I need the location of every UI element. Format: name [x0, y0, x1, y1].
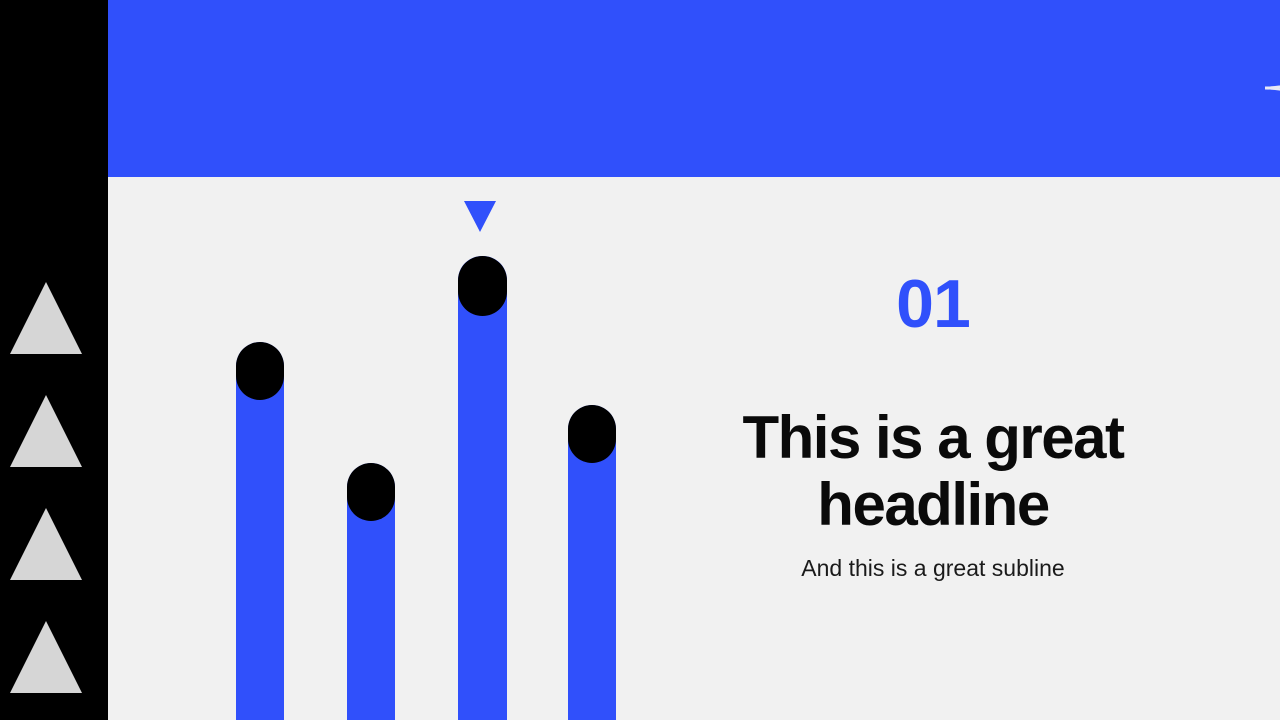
bar-chart: [0, 0, 720, 720]
bar-3: [458, 256, 507, 720]
bar-2-cap-icon: [347, 463, 395, 521]
text-block: 01 This is a great headline And this is …: [700, 270, 1166, 584]
bar-3-cap-icon: [458, 256, 507, 316]
slide-canvas: 01 This is a great headline And this is …: [0, 0, 1280, 720]
bar-1-cap-icon: [236, 342, 284, 400]
bar-4-cap-icon: [568, 405, 616, 463]
four-pointed-star-icon: [1265, 0, 1280, 177]
triangle-down-marker-icon: [464, 201, 496, 232]
page-subtitle: And this is a great subline: [700, 554, 1166, 584]
page-title: This is a great headline: [700, 404, 1166, 538]
section-number: 01: [700, 270, 1166, 338]
